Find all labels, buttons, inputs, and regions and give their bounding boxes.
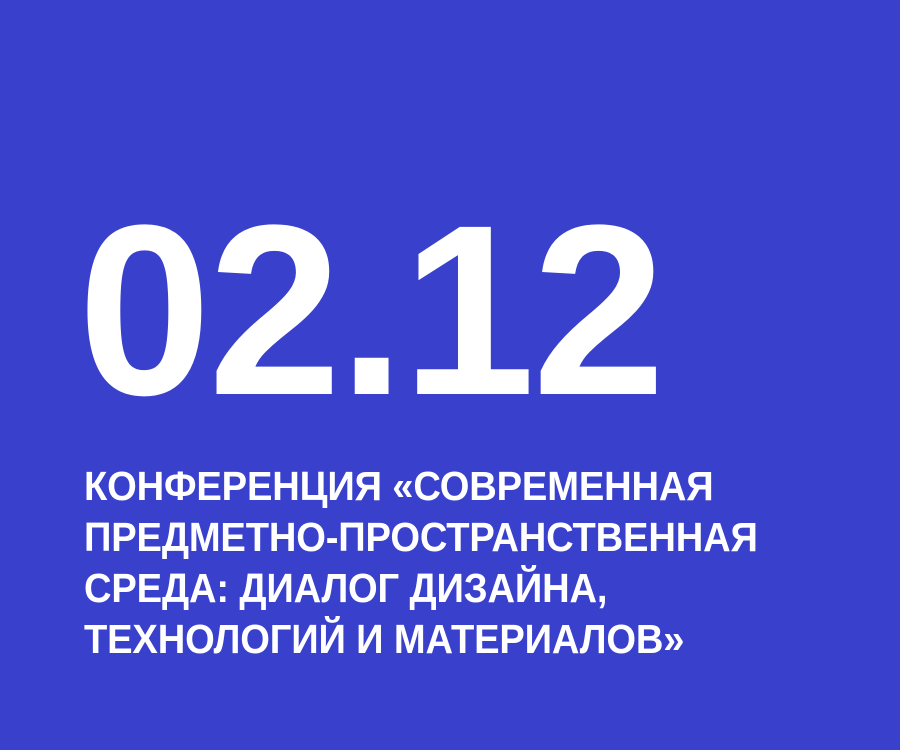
event-date: 02.12	[78, 216, 838, 416]
event-date-text: 02.12	[78, 216, 663, 406]
event-title-line-3: СРЕДА: ДИАЛОГ ДИЗАЙНА,	[84, 563, 819, 614]
event-title-line-1: КОНФЕРЕНЦИЯ «СОВРЕМЕННАЯ	[84, 461, 819, 512]
event-title-line-4: ТЕХНОЛОГИЙ И МАТЕРИАЛОВ»	[84, 614, 819, 665]
poster-canvas: 02.12 КОНФЕРЕНЦИЯ «СОВРЕМЕННАЯ ПРЕДМЕТНО…	[0, 0, 900, 750]
event-title-line-2: ПРЕДМЕТНО-ПРОСТРАНСТВЕННАЯ	[84, 512, 819, 563]
event-title: КОНФЕРЕНЦИЯ «СОВРЕМЕННАЯ ПРЕДМЕТНО-ПРОСТ…	[84, 461, 874, 665]
